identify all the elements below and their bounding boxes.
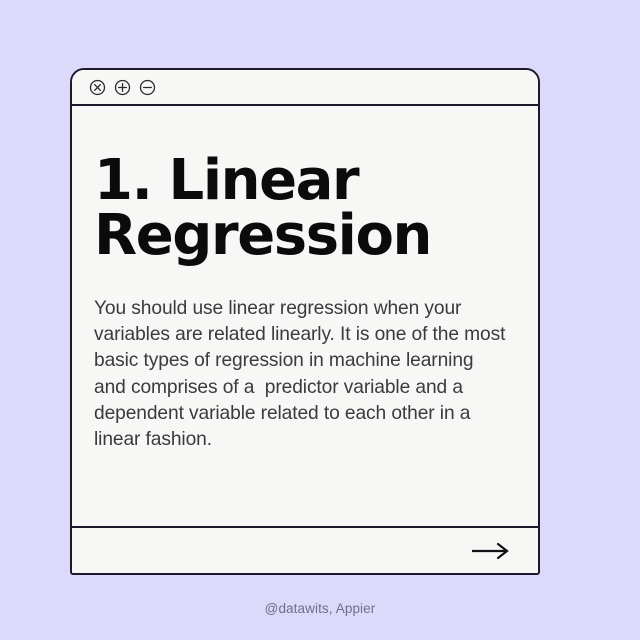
page-title: 1. Linear Regression	[94, 106, 424, 264]
body-paragraph: You should use linear regression when yo…	[94, 264, 508, 454]
window-content: 1. Linear Regression You should use line…	[72, 106, 538, 526]
plus-icon[interactable]	[114, 79, 131, 96]
credit-attribution: @datawits, Appier	[0, 601, 640, 616]
window-footer-bar	[72, 526, 538, 573]
minus-icon[interactable]	[139, 79, 156, 96]
arrow-right-icon[interactable]	[468, 540, 512, 562]
window-titlebar	[72, 70, 538, 106]
slide-canvas: 1. Linear Regression You should use line…	[0, 0, 640, 640]
browser-window-card: 1. Linear Regression You should use line…	[70, 68, 540, 575]
close-icon[interactable]	[89, 79, 106, 96]
